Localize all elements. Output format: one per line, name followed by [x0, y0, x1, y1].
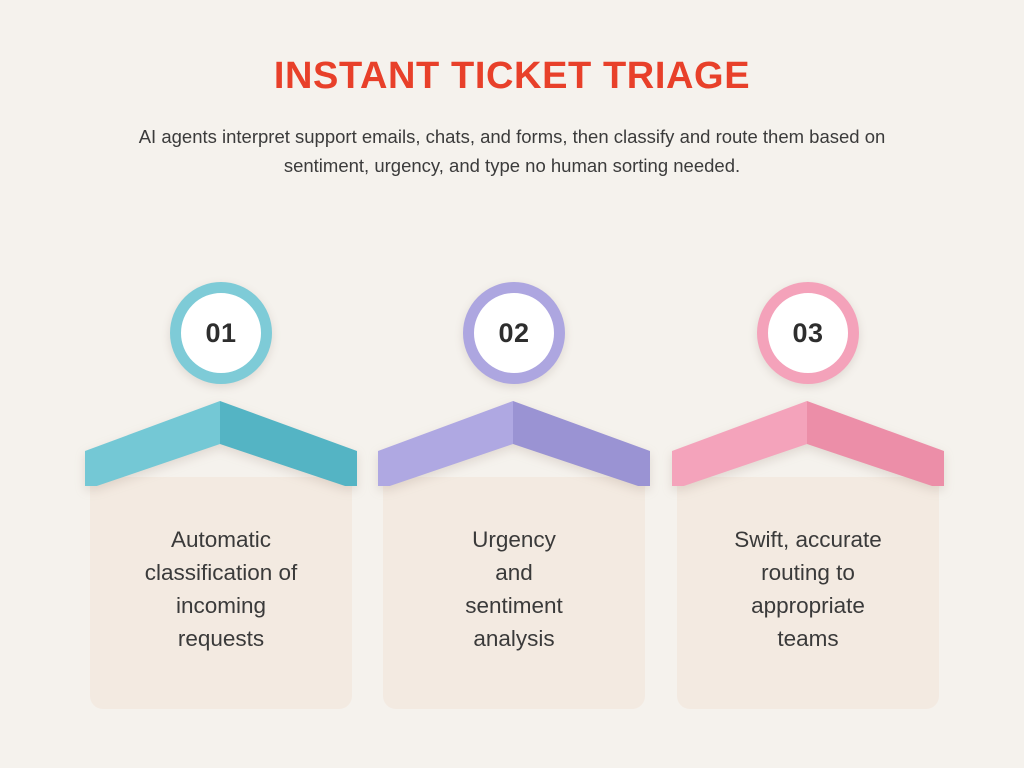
step-badge-3: 03: [757, 282, 859, 384]
chevron-right-face-3: [807, 401, 944, 486]
panel-step-1[interactable]: 01 Automatic classification of incoming …: [74, 282, 368, 712]
step-card-2: Urgency and sentiment analysis: [383, 477, 645, 709]
chevron-roof-1: [74, 394, 368, 486]
step-badge-2: 02: [463, 282, 565, 384]
badge-wrap-3: 03: [661, 282, 955, 392]
page-subtitle: AI agents interpret support emails, chat…: [112, 122, 912, 180]
chevron-roof-3: [661, 394, 955, 486]
chevron-left-face-1: [85, 401, 220, 486]
subtitle-line-1: AI agents interpret support emails, chat…: [139, 126, 758, 147]
header: INSTANT TICKET TRIAGE AI agents interpre…: [0, 52, 1024, 180]
step-badge-1: 01: [170, 282, 272, 384]
step-text-1: Automatic classification of incoming req…: [145, 523, 298, 655]
chevron-left-face-3: [672, 401, 807, 486]
badge-wrap-2: 02: [367, 282, 661, 392]
chevron-right-face-2: [513, 401, 650, 486]
badge-wrap-1: 01: [74, 282, 368, 392]
step-card-1: Automatic classification of incoming req…: [90, 477, 352, 709]
panels-row: 01 Automatic classification of incoming …: [0, 282, 1024, 712]
panel-step-2[interactable]: 02 Urgency and sentiment analysis: [367, 282, 661, 712]
step-number-2: 02: [498, 320, 529, 347]
step-text-2: Urgency and sentiment analysis: [465, 523, 563, 655]
step-number-3: 03: [792, 320, 823, 347]
chevron-right-face-1: [220, 401, 357, 486]
step-card-3: Swift, accurate routing to appropriate t…: [677, 477, 939, 709]
chevron-left-face-2: [378, 401, 513, 486]
step-text-3: Swift, accurate routing to appropriate t…: [734, 523, 882, 655]
chevron-roof-2: [367, 394, 661, 486]
step-number-1: 01: [205, 320, 236, 347]
panel-step-3[interactable]: 03 Swift, accurate routing to appropriat…: [661, 282, 955, 712]
infographic-page: INSTANT TICKET TRIAGE AI agents interpre…: [0, 0, 1024, 768]
page-title: INSTANT TICKET TRIAGE: [0, 52, 1024, 100]
